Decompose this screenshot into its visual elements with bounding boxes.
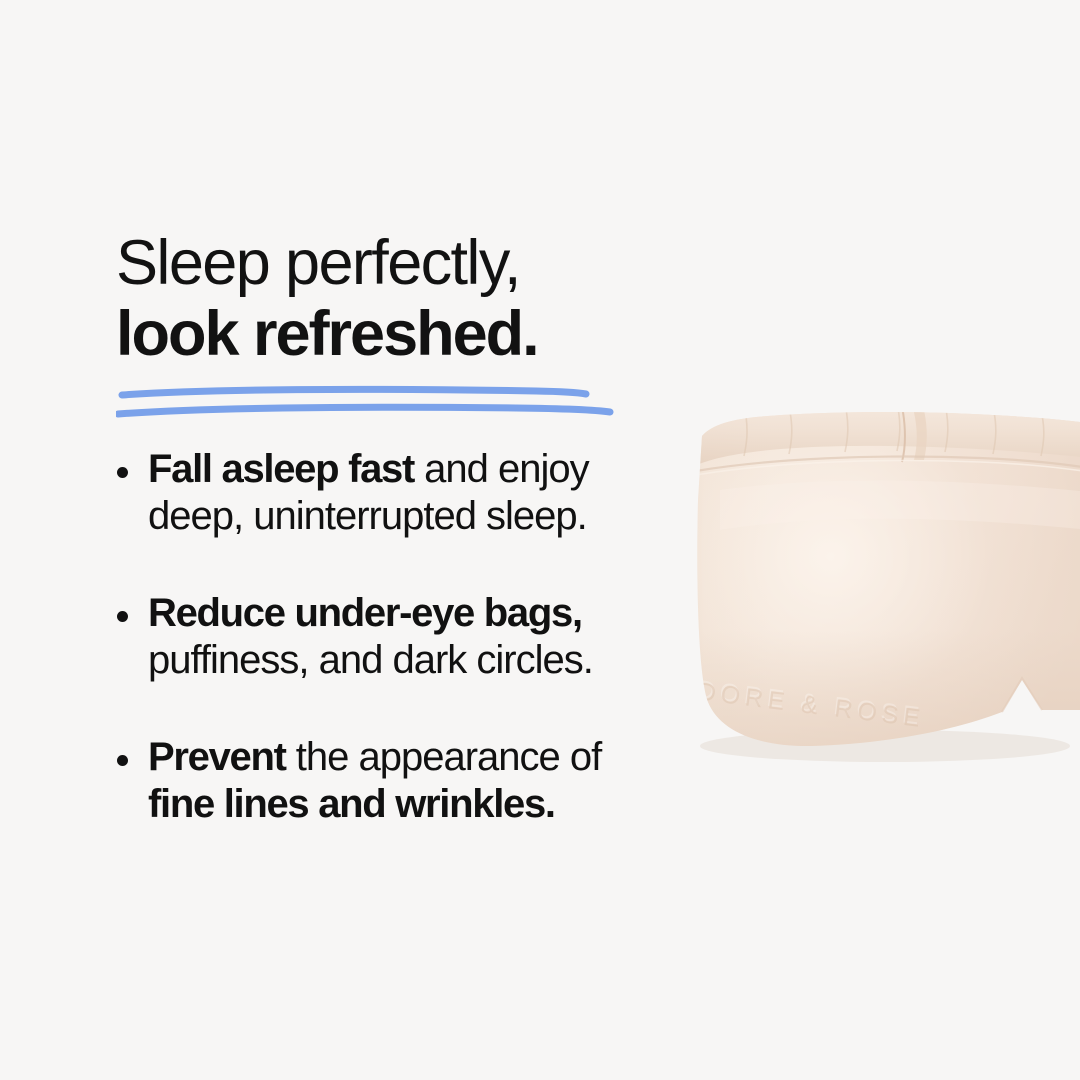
top-seam	[690, 457, 1080, 472]
benefit-line-2: deep, uninterrupted sleep.	[148, 493, 696, 540]
benefit-regular-phrase-2: puffiness, and dark circles.	[148, 638, 593, 682]
svg-text:DORE & ROSE: DORE & ROSE	[695, 675, 925, 731]
benefit-line-1: Prevent the appearance of	[148, 734, 696, 781]
benefit-bold-phrase: Prevent	[148, 735, 286, 779]
benefit-line-1: Reduce under-eye bags,	[148, 590, 696, 637]
benefit-line-2: fine lines and wrinkles.	[148, 781, 696, 828]
bottom-shading	[650, 630, 1080, 800]
nose-notch	[1002, 678, 1042, 712]
benefit-regular-phrase-2: deep, uninterrupted sleep.	[148, 494, 587, 538]
product-image-container: DORE & ROSE DORE & ROSE	[650, 380, 1080, 800]
benefit-text: Reduce under-eye bags, puffiness, and da…	[148, 590, 696, 684]
svg-text:DORE & ROSE: DORE & ROSE	[696, 678, 926, 734]
embossed-logo: DORE & ROSE DORE & ROSE	[695, 675, 926, 733]
headline-underline	[116, 382, 636, 426]
benefit-text: Fall asleep fast and enjoy deep, uninter…	[148, 446, 696, 540]
benefit-bold-phrase-2: fine lines and wrinkles.	[148, 782, 555, 826]
headline-line-2: look refreshed.	[116, 299, 696, 370]
underline-stroke-1	[122, 389, 586, 395]
headline-line-1: Sleep perfectly,	[116, 228, 696, 299]
list-item: Fall asleep fast and enjoy deep, uninter…	[116, 446, 696, 540]
benefit-bold-phrase: Fall asleep fast	[148, 447, 414, 491]
product-drop-shadow	[700, 730, 1070, 762]
mask-body: DORE & ROSE DORE & ROSE	[650, 380, 1080, 800]
bullet-dot-icon	[117, 467, 128, 478]
benefit-text: Prevent the appearance of fine lines and…	[148, 734, 696, 828]
top-seam-highlight	[690, 461, 1080, 476]
benefit-regular-phrase: and enjoy	[414, 447, 589, 491]
fabric-sheen	[720, 480, 1080, 530]
product-benefits-poster: DORE & ROSE DORE & ROSE Sleep perfectly,…	[0, 0, 1080, 1080]
copy-block: Sleep perfectly, look refreshed. Fall as…	[116, 228, 696, 828]
center-fold	[912, 402, 927, 460]
pleat-creases	[744, 408, 1044, 456]
underline-stroke-2	[118, 407, 610, 414]
benefit-regular-phrase: the appearance of	[286, 735, 602, 779]
bullet-dot-icon	[117, 755, 128, 766]
center-fold-crease	[902, 406, 905, 462]
gathered-top-band	[690, 396, 1080, 468]
page-title: Sleep perfectly, look refreshed.	[116, 228, 696, 370]
benefit-line-2: puffiness, and dark circles.	[148, 637, 696, 684]
benefits-list: Fall asleep fast and enjoy deep, uninter…	[116, 446, 696, 828]
hand-drawn-double-underline-icon	[116, 382, 636, 426]
benefit-bold-phrase: Reduce under-eye bags,	[148, 591, 582, 635]
silk-sleep-mask-illustration: DORE & ROSE DORE & ROSE	[650, 380, 1080, 800]
list-item: Reduce under-eye bags, puffiness, and da…	[116, 590, 696, 684]
list-item: Prevent the appearance of fine lines and…	[116, 734, 696, 828]
bullet-dot-icon	[117, 611, 128, 622]
benefit-line-1: Fall asleep fast and enjoy	[148, 446, 696, 493]
